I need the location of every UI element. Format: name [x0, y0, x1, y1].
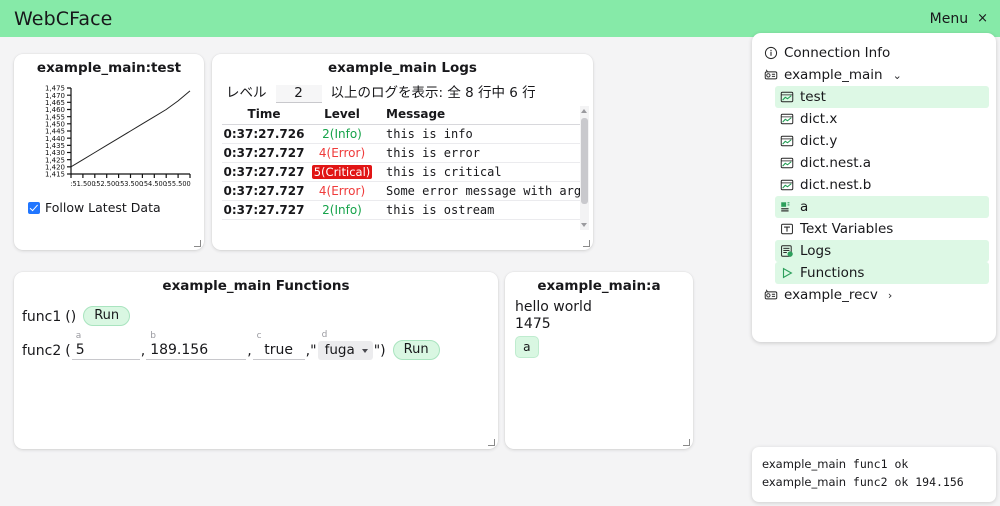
menu-item-label: Logs — [800, 243, 831, 259]
func2-arg-c: c true — [253, 342, 305, 360]
functions-card-title: example_main Functions — [14, 272, 498, 298]
toast-notification: example_main func1 okexample_main func2 … — [752, 447, 996, 502]
x-tick-label: :53.500 — [118, 180, 143, 188]
view-icon — [780, 200, 794, 214]
x-tick-label: :51.500 — [70, 180, 95, 188]
logs-col-message: Message — [378, 106, 589, 125]
follow-latest-checkbox[interactable] — [28, 202, 40, 214]
menu-item-label: dict.nest.b — [800, 177, 871, 193]
app-brand: WebCFace — [14, 8, 112, 30]
log-time: 0:37:27.727 — [222, 182, 306, 201]
x-tick-label: :55.500 — [165, 180, 190, 188]
menu-item-label: dict.x — [800, 111, 837, 127]
menu-item-label: example_main — [784, 67, 883, 83]
menu-item-connection-info[interactable]: Connection Info — [759, 42, 989, 64]
table-row: 0:37:27.7262(Info)this is info — [222, 125, 589, 144]
log-level: 4(Error) — [306, 182, 378, 201]
chart-icon — [780, 178, 794, 192]
function-row-func1: func1 ( ) Run — [14, 298, 498, 326]
value-card-line-1: hello world — [505, 298, 693, 315]
text-icon — [780, 222, 794, 236]
log-level-badge: 2(Info) — [322, 127, 362, 141]
func2-run-button[interactable]: Run — [393, 340, 440, 360]
toast-source: example_main — [762, 457, 846, 471]
menu-panel: Connection Infoexample_main⌄testdict.xdi… — [752, 33, 996, 342]
menu-item-label: dict.y — [800, 133, 837, 149]
table-row: 0:37:27.7274(Error)Some error message wi… — [222, 182, 589, 201]
menu-item-label: Connection Info — [784, 45, 890, 61]
func1-run-button[interactable]: Run — [83, 306, 130, 326]
x-tick-label: :52.500 — [94, 180, 119, 188]
scroll-up-icon[interactable] — [581, 109, 587, 113]
menu-item-dict-x[interactable]: dict.x — [775, 108, 989, 130]
log-time: 0:37:27.727 — [222, 201, 306, 220]
log-level: 2(Info) — [306, 125, 378, 144]
app-header: WebCFace Menu × — [0, 0, 1000, 37]
func2-comma-1: , — [141, 343, 145, 360]
server-icon — [764, 68, 778, 82]
func2-quote-open: " — [310, 343, 316, 360]
menu-item-functions[interactable]: Functions — [775, 262, 989, 284]
log-message: Some error message with arg: 1 — [378, 182, 589, 201]
logs-table-body: 0:37:27.7262(Info)this is info0:37:27.72… — [222, 125, 589, 220]
menu-item-label: Functions — [800, 265, 864, 281]
chart-icon — [780, 156, 794, 170]
value-card: example_main:a hello world 1475 a — [505, 272, 693, 449]
logs-scrollbar[interactable] — [580, 106, 589, 230]
func1-close-paren: ) — [71, 309, 76, 326]
menu-item-dict-nest-a[interactable]: dict.nest.a — [775, 152, 989, 174]
y-tick-label: 1,415 — [45, 171, 65, 179]
menu-item-a[interactable]: a — [775, 196, 989, 218]
functions-card-resize-handle[interactable] — [488, 439, 496, 447]
func2-arg-b-input[interactable]: 189.156 — [146, 342, 246, 360]
menu-item-dict-y[interactable]: dict.y — [775, 130, 989, 152]
chart-icon — [780, 112, 794, 126]
value-card-badge[interactable]: a — [515, 336, 539, 358]
follow-latest-label: Follow Latest Data — [45, 200, 161, 215]
func2-arg-b-label: b — [150, 331, 156, 341]
logs-col-time: Time — [222, 106, 306, 125]
log-level-badge: 4(Error) — [319, 146, 365, 160]
menu-item-label: test — [800, 89, 826, 105]
func2-comma-2: , — [247, 343, 251, 360]
chevron-right-icon[interactable]: › — [888, 289, 892, 302]
log-level-badge: 2(Info) — [322, 203, 362, 217]
series-line-test — [71, 91, 190, 167]
table-row: 0:37:27.7272(Info)this is ostream — [222, 201, 589, 220]
menu-item-label: dict.nest.a — [800, 155, 871, 171]
function-row-func2: func2 ( a 5 , b 189.156 , c true , " d f… — [14, 326, 498, 360]
menu-item-logs[interactable]: Logs — [775, 240, 989, 262]
logs-filter-prefix: レベル — [226, 81, 267, 101]
func2-arg-d: d fuga — [318, 341, 373, 360]
logs-scrollbar-thumb[interactable] — [581, 118, 588, 204]
line-chart-svg: 1,4751,4701,4651,4601,4551,4501,4451,440… — [14, 80, 204, 198]
log-message: this is error — [378, 144, 589, 163]
log-message: this is ostream — [378, 201, 589, 220]
value-card-title: example_main:a — [505, 272, 693, 298]
table-row: 0:37:27.7274(Error)this is error — [222, 144, 589, 163]
func2-close-paren: ) — [380, 343, 385, 360]
logs-card: example_main Logs レベル 2 以上のログを表示: 全 8 行中… — [212, 54, 593, 250]
menu-item-text-variables[interactable]: Text Variables — [775, 218, 989, 240]
log-level: 5(Critical) — [306, 163, 378, 182]
func1-open-paren: ( — [61, 309, 70, 326]
info-icon — [764, 46, 778, 60]
func2-arg-a-input[interactable]: 5 — [72, 342, 140, 360]
func2-arg-c-input[interactable]: true — [253, 342, 305, 360]
header-actions: Menu × — [930, 11, 988, 27]
log-message: this is critical — [378, 163, 589, 182]
log-level-badge: 5(Critical) — [312, 165, 373, 179]
toast-line: example_main func2 ok 194.156 — [762, 473, 986, 491]
functions-card: example_main Functions func1 ( ) Run fun… — [14, 272, 498, 449]
logs-table-wrap: Time Level Message 0:37:27.7262(Info)thi… — [222, 106, 589, 230]
log-time: 0:37:27.726 — [222, 125, 306, 144]
value-card-line-2: 1475 — [505, 315, 693, 332]
value-card-resize-handle[interactable] — [683, 439, 691, 447]
chart-icon — [780, 90, 794, 104]
func1-name: func1 — [22, 309, 61, 326]
follow-latest-row[interactable]: Follow Latest Data — [14, 198, 204, 215]
func2-arg-a-label: a — [76, 331, 82, 341]
log-time: 0:37:27.727 — [222, 163, 306, 182]
log-level: 2(Info) — [306, 201, 378, 220]
chart-icon — [780, 134, 794, 148]
chevron-down-icon[interactable]: ⌄ — [893, 69, 902, 82]
logs-filter-row: レベル 2 以上のログを表示: 全 8 行中 6 行 — [212, 80, 593, 106]
chart-plot-area[interactable]: 1,4751,4701,4651,4601,4551,4501,4451,440… — [14, 80, 204, 198]
chart-card-title: example_main:test — [14, 54, 204, 80]
log-level: 4(Error) — [306, 144, 378, 163]
func2-arg-c-label: c — [257, 331, 262, 341]
toast-source: example_main — [762, 475, 846, 489]
chevron-down-icon — [362, 349, 368, 353]
log-level-badge: 4(Error) — [319, 184, 365, 198]
scroll-down-icon[interactable] — [581, 223, 587, 227]
menu-button[interactable]: Menu — [930, 11, 968, 27]
x-tick-label: :54.500 — [142, 180, 167, 188]
menu-item-dict-nest-b[interactable]: dict.nest.b — [775, 174, 989, 196]
toast-line: example_main func1 ok — [762, 455, 986, 473]
table-row: 0:37:27.7275(Critical)this is critical — [222, 163, 589, 182]
func2-arg-d-select[interactable]: fuga — [318, 341, 373, 360]
menu-item-example-main[interactable]: example_main⌄ — [759, 64, 989, 86]
func2-arg-d-label: d — [322, 330, 328, 340]
func2-arg-d-value: fuga — [325, 342, 355, 358]
menu-item-test[interactable]: test — [775, 86, 989, 108]
func2-open-paren: ( — [61, 343, 70, 360]
func2-arg-b: b 189.156 — [146, 342, 246, 360]
chart-card: example_main:test 1,4751,4701,4651,4601,… — [14, 54, 204, 250]
log-message: this is info — [378, 125, 589, 144]
func2-arg-a: a 5 — [72, 342, 140, 360]
menu-item-label: Text Variables — [800, 221, 893, 237]
log-time: 0:37:27.727 — [222, 144, 306, 163]
close-icon[interactable]: × — [977, 11, 988, 26]
toast-text: func1 ok — [846, 457, 908, 471]
menu-item-label: example_recv — [784, 287, 878, 303]
logs-filter-suffix: 以上のログを表示: 全 8 行中 6 行 — [331, 81, 536, 101]
logs-card-title: example_main Logs — [212, 54, 593, 80]
toast-text: func2 ok 194.156 — [846, 475, 964, 489]
menu-item-example-recv[interactable]: example_recv› — [759, 284, 989, 306]
server-icon — [764, 288, 778, 302]
func2-name: func2 — [22, 343, 61, 360]
logs-icon — [780, 244, 794, 258]
menu-item-label: a — [800, 199, 808, 215]
logs-level-input[interactable]: 2 — [276, 85, 322, 103]
logs-card-resize-handle[interactable] — [583, 240, 591, 248]
chart-card-resize-handle[interactable] — [194, 240, 202, 248]
play-icon — [780, 266, 794, 280]
logs-header-row: Time Level Message — [222, 106, 589, 125]
logs-col-level: Level — [306, 106, 378, 125]
logs-table: Time Level Message 0:37:27.7262(Info)thi… — [222, 106, 589, 220]
page-body: example_main:test 1,4751,4701,4651,4601,… — [0, 37, 1000, 506]
